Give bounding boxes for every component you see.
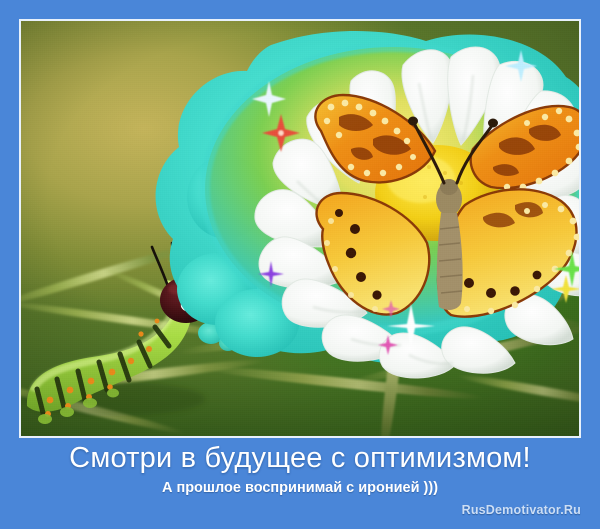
poster-title: Смотри в будущее с оптимизмом! xyxy=(0,441,600,475)
poster-subtitle: А прошлое воспринимай с иронией ))) xyxy=(0,478,600,498)
watermark: RusDemotivator.Ru xyxy=(462,503,581,517)
demotivator-poster: Смотри в будущее с оптимизмом! А прошлое… xyxy=(0,0,600,529)
photo-frame xyxy=(19,19,581,438)
photo-grain xyxy=(21,21,579,436)
photo-image xyxy=(21,21,579,436)
caption-block: Смотри в будущее с оптимизмом! А прошлое… xyxy=(0,441,600,498)
